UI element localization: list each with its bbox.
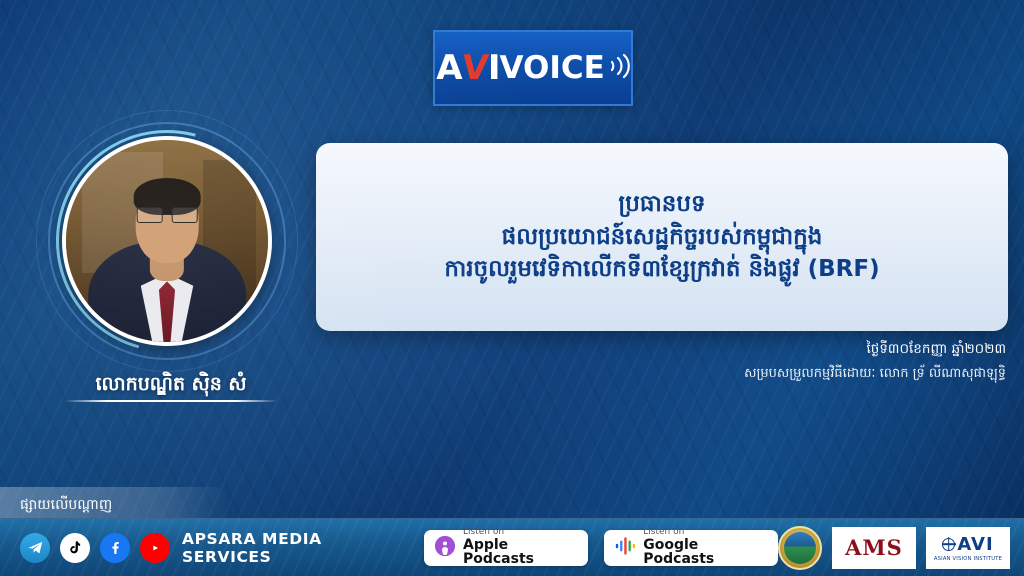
broadcast-ribbon-label: ផ្សាយលើបណ្ដាញ bbox=[0, 495, 112, 516]
avi-voice-logo: A V I VOICE bbox=[433, 30, 633, 106]
speaker-portrait bbox=[62, 136, 272, 346]
speaker-portrait-frame bbox=[62, 136, 272, 346]
glasses-lens-right bbox=[171, 207, 197, 223]
royal-emblem-logo bbox=[778, 526, 822, 570]
title-line-3-main: ការចូលរួមវេទិកាលើកទី៣ខ្សែក្រវាត់ និងផ្លូ… bbox=[444, 256, 799, 282]
title-card: ប្រធានបទ ផលប្រយោជន៍សេដ្ឋកិច្ចរបស់កម្ពុជា… bbox=[316, 143, 1008, 331]
slide-canvas: A V I VOICE bbox=[0, 0, 1024, 576]
logo-letter-a: A bbox=[436, 48, 461, 88]
ams-logo-text: AMS bbox=[845, 535, 903, 560]
avi-logo-text: AVI bbox=[957, 534, 993, 555]
ams-logo: AMS bbox=[832, 527, 916, 569]
speaker-name: លោកបណ្ឌិត ស៊ិន សំ bbox=[56, 372, 286, 400]
social-icons bbox=[20, 533, 170, 563]
facebook-icon[interactable] bbox=[100, 533, 130, 563]
organization-name: APSARA MEDIA SERVICES bbox=[182, 530, 408, 566]
logo-word-voice: VOICE bbox=[500, 50, 605, 86]
apple-podcasts-big: Apple Podcasts bbox=[463, 538, 578, 567]
program-meta: ថ្ងៃទី៣០ខែកញ្ញា ឆ្នាំ២០២៣ សម្របសម្រួលកម្… bbox=[386, 340, 1006, 384]
partner-logos: AMS AVI ASIAN VISION INSTITUTE bbox=[778, 526, 1010, 570]
google-podcasts-big: Google Podcasts bbox=[643, 538, 768, 567]
royal-emblem-inner bbox=[784, 532, 816, 564]
title-line-1: ប្រធានបទ bbox=[618, 188, 705, 221]
portrait-glasses bbox=[137, 207, 198, 223]
sound-wave-icon bbox=[608, 53, 630, 83]
globe-icon bbox=[942, 538, 955, 551]
footer-bar: APSARA MEDIA SERVICES Listen on Apple Po… bbox=[0, 518, 1024, 576]
title-line-3-suffix: (BRF) bbox=[808, 256, 880, 282]
speaker-name-underline bbox=[64, 400, 278, 402]
title-line-3: ការចូលរួមវេទិកាលើកទី៣ខ្សែក្រវាត់ និងផ្លូ… bbox=[444, 253, 879, 286]
program-byline: សម្របសម្រួលកម្មវិធីដោយៈ លោក ទ្រ័ លីណាសុផ… bbox=[386, 365, 1006, 384]
apple-podcasts-text: Listen on Apple Podcasts bbox=[463, 528, 578, 567]
avi-voice-logo-inner: A V I VOICE bbox=[436, 48, 630, 88]
google-podcasts-badge[interactable]: Listen on Google Podcasts bbox=[604, 530, 778, 566]
avi-logo-top: AVI bbox=[942, 534, 993, 555]
apple-podcast-icon bbox=[434, 535, 456, 561]
google-podcast-icon bbox=[614, 535, 636, 561]
telegram-icon[interactable] bbox=[20, 533, 50, 563]
glasses-lens-left bbox=[137, 207, 163, 223]
avi-logo: AVI ASIAN VISION INSTITUTE bbox=[926, 527, 1010, 569]
apple-podcasts-badge[interactable]: Listen on Apple Podcasts bbox=[424, 530, 588, 566]
avi-logo-subtitle: ASIAN VISION INSTITUTE bbox=[934, 556, 1002, 562]
logo-letter-v: V bbox=[459, 48, 490, 88]
google-podcasts-text: Listen on Google Podcasts bbox=[643, 528, 768, 567]
glasses-bridge bbox=[164, 214, 170, 216]
title-line-2: ផលប្រយោជន៍សេដ្ឋកិច្ចរបស់កម្ពុជាក្នុង bbox=[502, 221, 823, 254]
tiktok-icon[interactable] bbox=[60, 533, 90, 563]
program-date: ថ្ងៃទី៣០ខែកញ្ញា ឆ្នាំ២០២៣ bbox=[386, 340, 1006, 360]
youtube-icon[interactable] bbox=[140, 533, 170, 563]
